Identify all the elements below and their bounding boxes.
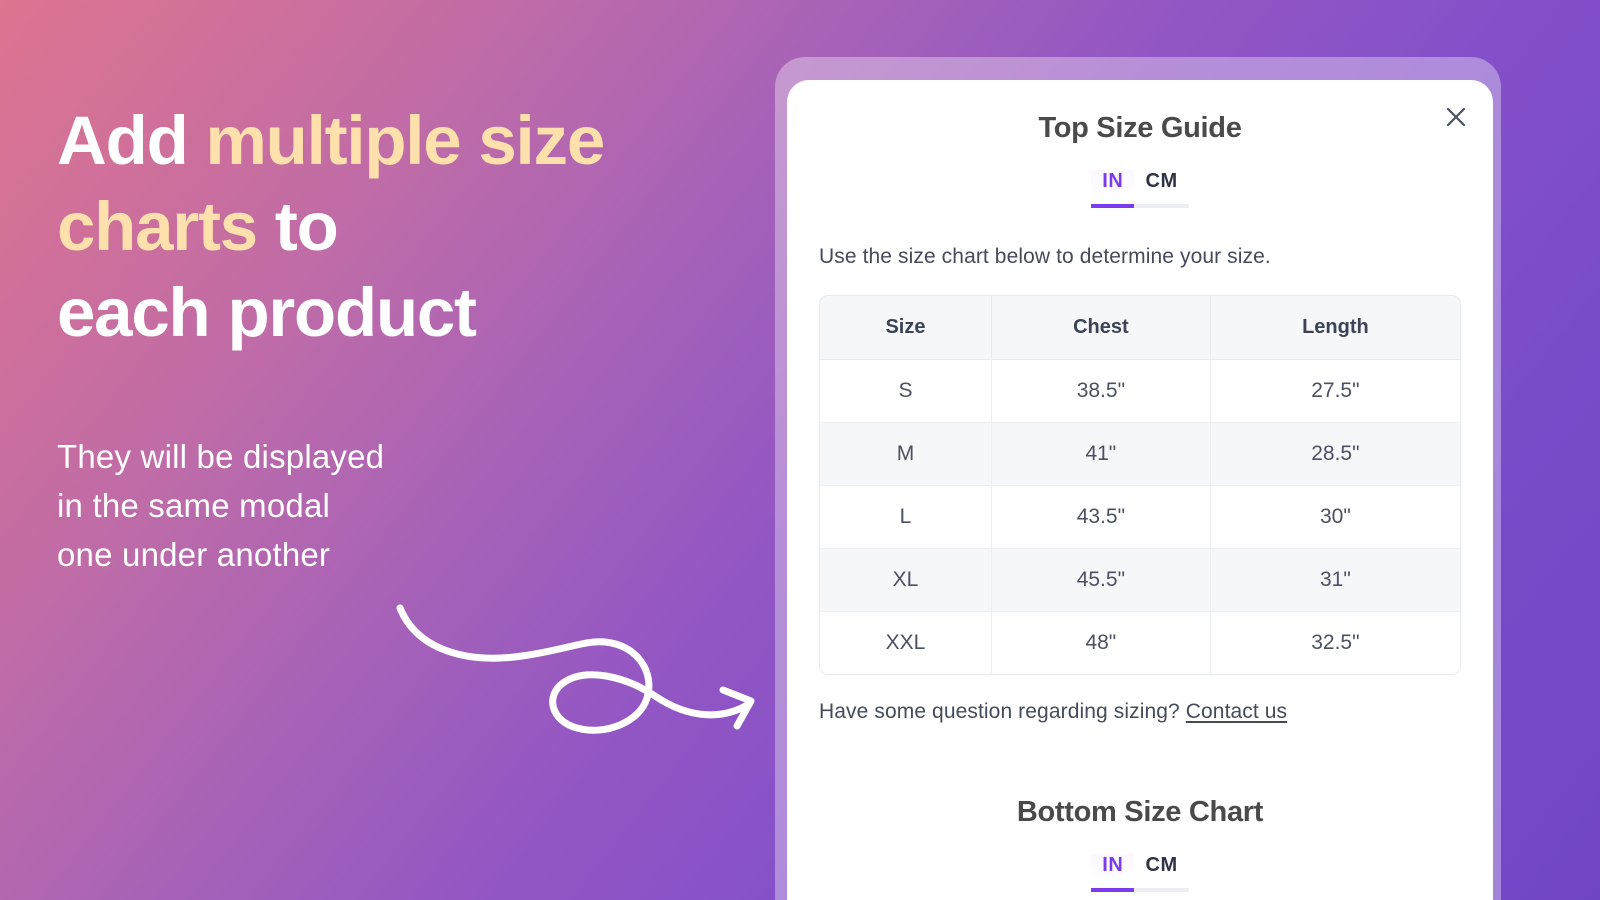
table-row: L 43.5" 30" (820, 486, 1460, 549)
section-title-top: Top Size Guide (819, 80, 1461, 145)
cell-chest: 43.5" (992, 486, 1211, 549)
cell-length: 28.5" (1211, 423, 1460, 486)
cell-length: 30" (1211, 486, 1460, 549)
tab-unit-in-bottom[interactable]: IN (1091, 854, 1134, 892)
headline-segment-plain-1: Add (57, 102, 206, 179)
cell-size: M (820, 423, 992, 486)
cell-chest: 45.5" (992, 549, 1211, 612)
size-section-bottom: Bottom Size Chart IN CM (819, 764, 1461, 892)
headline-segment-highlight-2: charts (57, 188, 257, 265)
size-table-top: Size Chest Length S 38.5" 27.5" M (819, 295, 1461, 675)
table-row: XL 45.5" 31" (820, 549, 1460, 612)
table-row: S 38.5" 27.5" (820, 360, 1460, 423)
marketing-copy: Add multiple size charts to each product… (57, 0, 757, 900)
headline-segment-plain-3: each product (57, 274, 476, 351)
unit-tabs-top: IN CM (819, 170, 1461, 208)
cell-length: 31" (1211, 549, 1460, 612)
table-row: XXL 48" 32.5" (820, 612, 1460, 674)
cell-chest: 48" (992, 612, 1211, 674)
headline-segment-highlight-1: multiple size (206, 102, 605, 179)
column-header-length: Length (1211, 296, 1460, 360)
subheadline-line-1: They will be displayed (57, 438, 384, 475)
subheadline-line-3: one under another (57, 536, 330, 573)
contact-line: Have some question regarding sizing? Con… (819, 700, 1461, 724)
page-subheadline: They will be displayed in the same modal… (57, 432, 657, 579)
tab-unit-cm-bottom[interactable]: CM (1134, 854, 1188, 892)
section-title-bottom: Bottom Size Chart (819, 764, 1461, 829)
cell-chest: 38.5" (992, 360, 1211, 423)
table-row: M 41" 28.5" (820, 423, 1460, 486)
contact-us-link[interactable]: Contact us (1186, 700, 1287, 723)
tab-unit-in-top[interactable]: IN (1091, 170, 1134, 208)
contact-question-text: Have some question regarding sizing? (819, 700, 1186, 723)
size-guide-modal: Top Size Guide IN CM Use the size chart … (787, 80, 1493, 900)
subheadline-line-2: in the same modal (57, 487, 330, 524)
curved-arrow-icon (337, 580, 777, 750)
cell-length: 32.5" (1211, 612, 1460, 674)
size-section-top: Top Size Guide IN CM Use the size chart … (819, 80, 1461, 724)
column-header-chest: Chest (992, 296, 1211, 360)
close-icon (1445, 106, 1467, 128)
cell-length: 27.5" (1211, 360, 1460, 423)
unit-tabs-bottom: IN CM (819, 854, 1461, 892)
close-button[interactable] (1439, 100, 1473, 134)
page-headline: Add multiple size charts to each product (57, 98, 747, 356)
cell-size: XXL (820, 612, 992, 674)
cell-size: L (820, 486, 992, 549)
column-header-size: Size (820, 296, 992, 360)
cell-size: XL (820, 549, 992, 612)
promo-banner: Add multiple size charts to each product… (0, 0, 1600, 900)
helper-text: Use the size chart below to determine yo… (819, 242, 1461, 272)
table-header-row: Size Chest Length (820, 296, 1460, 360)
tab-unit-cm-top[interactable]: CM (1134, 170, 1188, 208)
cell-chest: 41" (992, 423, 1211, 486)
headline-segment-plain-2: to (257, 188, 338, 265)
cell-size: S (820, 360, 992, 423)
